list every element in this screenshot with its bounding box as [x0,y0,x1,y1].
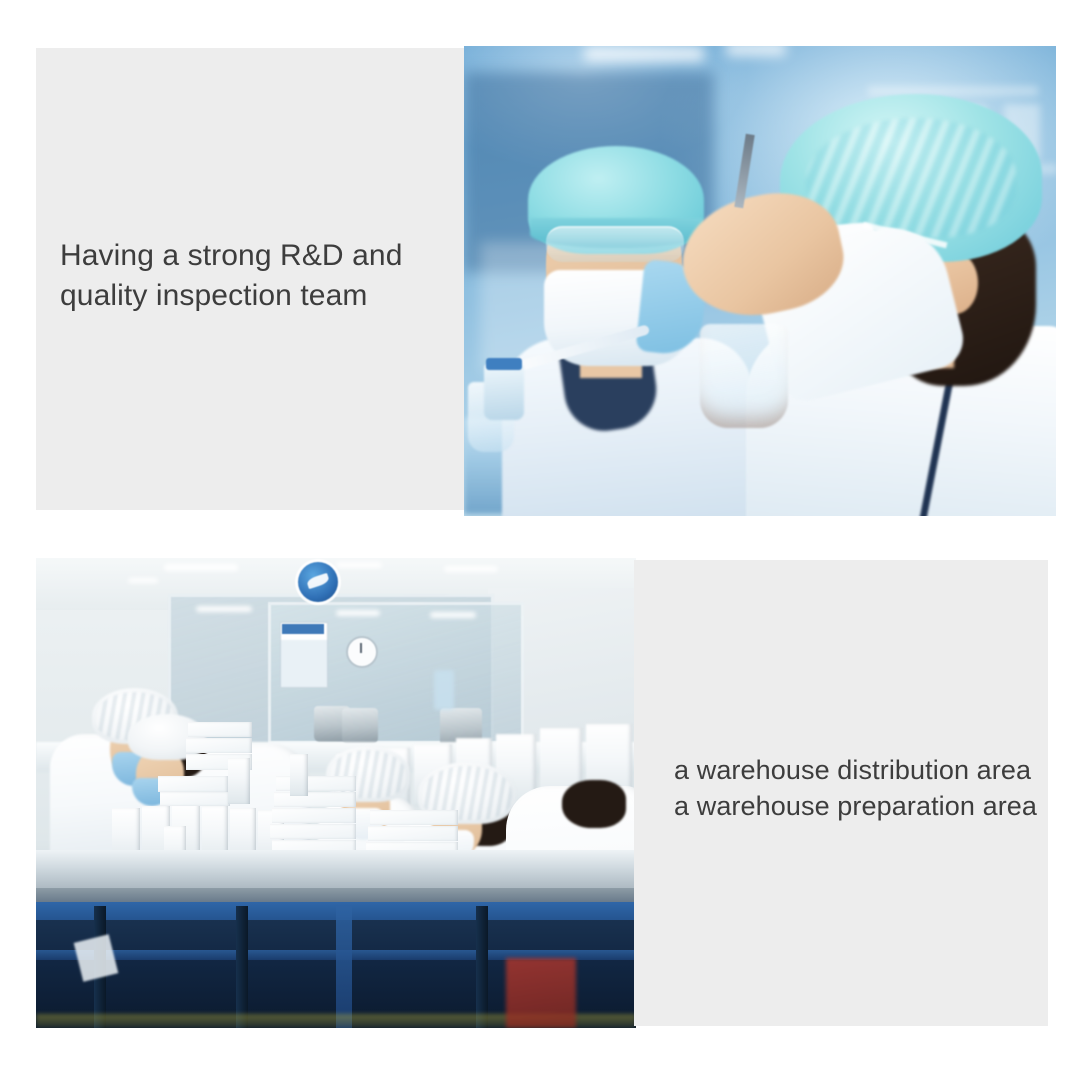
table-leg [476,906,488,1028]
caption-panel-rnd: Having a strong R&D and quality inspecti… [36,48,466,510]
beaker-icon [700,324,788,428]
page-root: Having a strong R&D and quality inspecti… [0,0,1080,1080]
ceiling-light-icon [336,562,382,568]
stainless-steel-table-top [36,850,636,890]
ceiling-light-icon [128,578,158,583]
carton-box-flat [158,776,228,792]
carton-box-flat [274,792,356,807]
blue-circular-sign-icon [298,562,338,602]
ceiling-light-icon [584,46,704,62]
hair [562,780,626,828]
ceiling-light-icon [196,606,252,612]
ceiling-light-icon [444,566,498,572]
wall-cabinet [434,670,454,710]
ceiling-light-icon [164,564,238,571]
ceiling-light-icon [430,612,476,618]
carton-box [228,758,250,804]
carton-box-flat [186,738,252,753]
table-leg [236,906,248,1028]
carton-box-flat [270,824,356,839]
carton-box-flat [276,776,356,791]
lab-scene-background [464,46,1056,516]
notice-header-bar [282,624,324,634]
section-warehouse: a warehouse distribution area a warehous… [36,558,1048,1028]
warehouse-scene-background [36,558,636,1028]
steel-pot-icon [342,708,378,744]
photo-warehouse-packing [36,558,636,1028]
wall-clock-icon [346,636,378,668]
red-bin [506,958,576,1028]
table-leg [336,906,352,1028]
caption-text-rnd: Having a strong R&D and quality inspecti… [60,236,460,316]
carton-box-flat [188,722,252,737]
hairnet-texture [806,118,1016,238]
carton-box-flat [368,826,458,841]
photo-lab-inspection [464,46,1056,516]
carton-box-flat [272,808,356,823]
caption-panel-warehouse: a warehouse distribution area a warehous… [634,560,1048,1026]
ceiling-light-icon [336,610,380,616]
vial-cap [486,358,522,370]
safety-glasses-icon [546,226,684,262]
carton-box-flat [370,810,458,825]
carton-box [290,754,308,796]
sample-vial-icon [484,364,524,420]
section-rnd-quality: Having a strong R&D and quality inspecti… [36,46,1056,516]
carton-box-flat [160,792,230,806]
ceiling-light-icon [726,46,786,56]
caption-text-warehouse: a warehouse distribution area a warehous… [674,752,1046,824]
